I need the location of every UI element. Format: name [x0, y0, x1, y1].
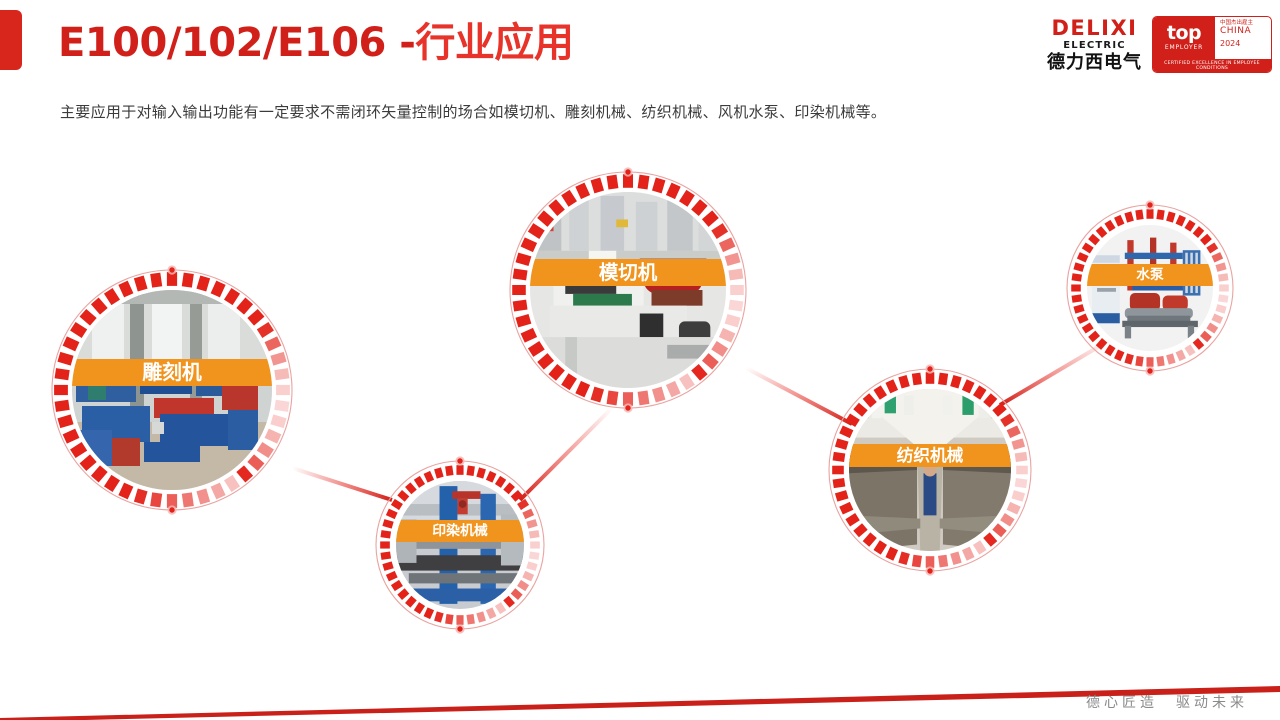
- node-label-die-cutting: 模切机: [530, 259, 726, 286]
- application-node-textile[interactable]: 纺织机械: [821, 361, 1039, 579]
- node-photo-engraving: 雕刻机: [72, 290, 272, 490]
- node-label-dyeing: 印染机械: [396, 520, 524, 542]
- ring-dot-bottom: [927, 568, 932, 573]
- industry-application-diagram: 雕刻机: [0, 0, 1280, 720]
- ring-dot-bottom: [169, 507, 174, 512]
- ring-dot-bottom: [1147, 368, 1152, 373]
- ring-dot-top: [1147, 202, 1152, 207]
- application-node-die-cutting[interactable]: 模切机: [502, 164, 754, 416]
- ring-dot-top: [625, 169, 630, 174]
- ring-dot-top: [457, 458, 462, 463]
- ring-dot-bottom: [457, 626, 462, 631]
- footer-slogan: 德心匠造 驱动未来: [1086, 692, 1248, 712]
- node-photo-dyeing: 印染机械: [396, 481, 524, 609]
- node-photo-die-cutting: 模切机: [530, 192, 726, 388]
- application-node-engraving[interactable]: 雕刻机: [44, 262, 300, 518]
- node-photo-water-pump: 水泵: [1087, 225, 1213, 351]
- node-label-water-pump: 水泵: [1087, 264, 1213, 286]
- application-node-dyeing[interactable]: 印染机械: [368, 453, 552, 637]
- ring-dot-top: [927, 366, 932, 371]
- node-label-textile: 纺织机械: [849, 444, 1011, 467]
- node-photo-textile: 纺织机械: [849, 389, 1011, 551]
- node-label-engraving: 雕刻机: [72, 359, 272, 387]
- application-node-water-pump[interactable]: 水泵: [1059, 197, 1241, 379]
- ring-dot-top: [169, 267, 174, 272]
- ring-dot-bottom: [625, 405, 630, 410]
